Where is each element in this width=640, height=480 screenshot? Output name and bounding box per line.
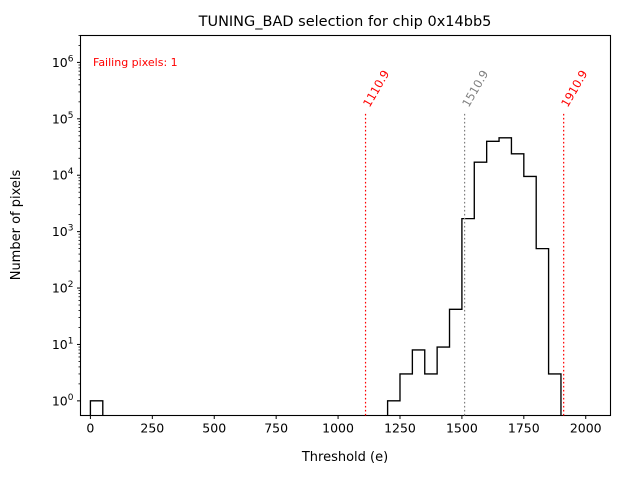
x-tick-label: 500: [202, 421, 226, 436]
x-tick-label: 0: [86, 421, 94, 436]
x-tick-label: 1750: [508, 421, 540, 436]
histogram-chart: TUNING_BAD selection for chip 0x14bb5 02…: [0, 0, 640, 480]
x-tick-label: 250: [140, 421, 164, 436]
x-tick-label: 750: [264, 421, 288, 436]
x-tick-label: 1500: [446, 421, 478, 436]
x-tick-label: 1000: [322, 421, 354, 436]
x-tick-label: 2000: [570, 421, 602, 436]
y-axis-label: Number of pixels: [9, 169, 24, 280]
failing-pixels-annotation: Failing pixels: 1: [93, 56, 178, 69]
x-tick-label: 1250: [384, 421, 416, 436]
x-axis-label: Threshold (e): [301, 450, 388, 465]
matplotlib-figure: TUNING_BAD selection for chip 0x14bb5 02…: [0, 0, 640, 480]
figure-background: [0, 0, 640, 480]
chart-title: TUNING_BAD selection for chip 0x14bb5: [198, 14, 492, 30]
